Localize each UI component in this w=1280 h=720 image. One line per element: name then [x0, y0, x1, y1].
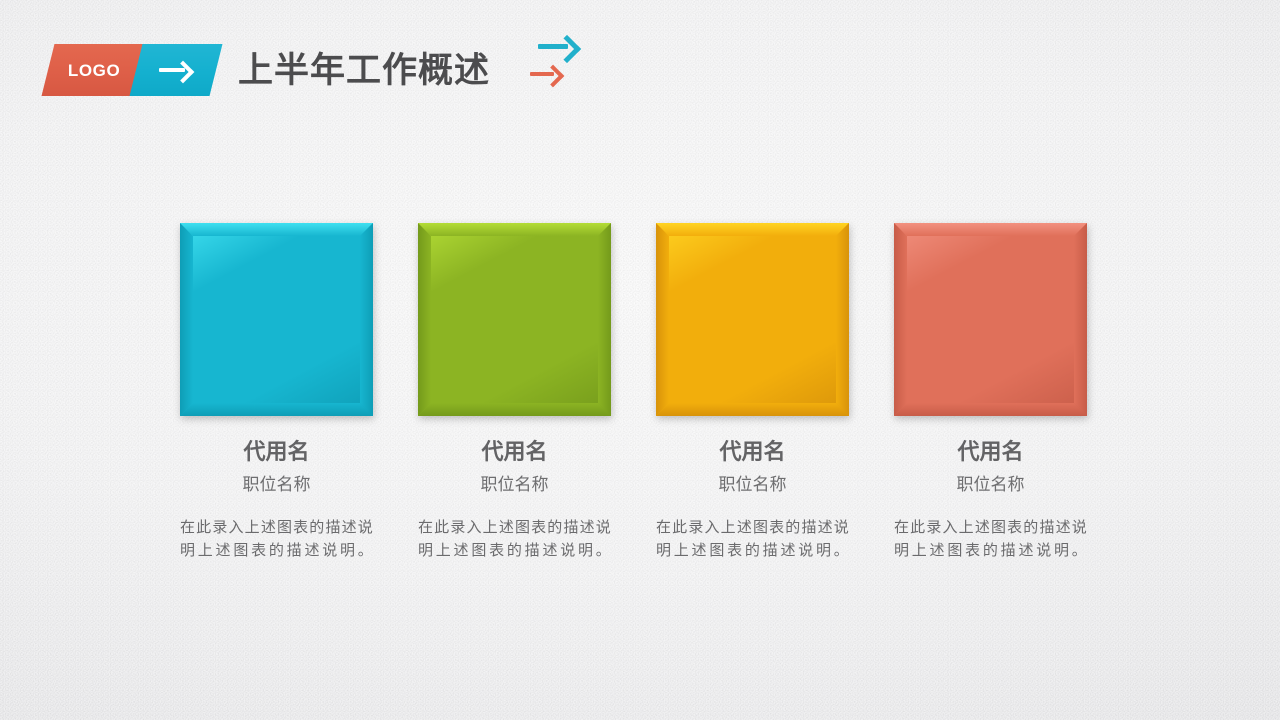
person-name: 代用名 — [957, 440, 1023, 464]
person-name: 代用名 — [243, 440, 309, 464]
person-role: 职位名称 — [719, 476, 787, 495]
tile-bevel-bottom — [180, 403, 373, 416]
color-tile-2[interactable] — [418, 223, 611, 416]
column-4: 代用名 职位名称 在此录入上述图表的描述说明上述图表的描述说明。 — [894, 223, 1087, 562]
tile-face — [418, 223, 611, 416]
slide-header: LOGO 上半年工作概述 — [0, 0, 1280, 120]
tile-bevel-top — [894, 223, 1087, 236]
tile-surface — [418, 223, 611, 416]
tile-bevel-bottom — [894, 403, 1087, 416]
slide-canvas: LOGO 上半年工作概述 — [0, 0, 1280, 720]
person-description: 在此录入上述图表的描述说明上述图表的描述说明。 — [656, 517, 849, 563]
tile-bevel-right — [360, 223, 373, 416]
tile-bevel-top — [180, 223, 373, 236]
tile-bevel-bottom — [418, 403, 611, 416]
person-role: 职位名称 — [481, 476, 549, 495]
person-description: 在此录入上述图表的描述说明上述图表的描述说明。 — [894, 517, 1087, 563]
tile-bevel-top — [418, 223, 611, 236]
logo-label: LOGO — [68, 62, 120, 79]
person-description: 在此录入上述图表的描述说明上述图表的描述说明。 — [418, 517, 611, 563]
arrow-right-icon-orange — [530, 66, 562, 84]
tile-bevel-left — [894, 223, 907, 416]
tile-bevel-right — [598, 223, 611, 416]
tile-face — [656, 223, 849, 416]
tile-face — [894, 223, 1087, 416]
logo-arrow-badge[interactable] — [130, 44, 223, 96]
tile-face — [180, 223, 373, 416]
person-name: 代用名 — [719, 440, 785, 464]
content-columns: 代用名 职位名称 在此录入上述图表的描述说明上述图表的描述说明。 代用名 职位名… — [180, 223, 1120, 562]
tile-bevel-bottom — [656, 403, 849, 416]
person-role: 职位名称 — [957, 476, 1025, 495]
arrow-right-icon — [159, 61, 193, 79]
tile-bevel-left — [656, 223, 669, 416]
tile-bevel-left — [180, 223, 193, 416]
person-description: 在此录入上述图表的描述说明上述图表的描述说明。 — [180, 517, 373, 563]
tile-bevel-right — [836, 223, 849, 416]
tile-bevel-top — [656, 223, 849, 236]
tile-bevel-right — [1074, 223, 1087, 416]
color-tile-3[interactable] — [656, 223, 849, 416]
person-role: 职位名称 — [243, 476, 311, 495]
arrow-right-icon-cyan — [538, 36, 578, 58]
color-tile-1[interactable] — [180, 223, 373, 416]
tile-surface — [656, 223, 849, 416]
column-1: 代用名 职位名称 在此录入上述图表的描述说明上述图表的描述说明。 — [180, 223, 373, 562]
tile-bevel-left — [418, 223, 431, 416]
title-decoration — [528, 32, 598, 94]
column-2: 代用名 职位名称 在此录入上述图表的描述说明上述图表的描述说明。 — [418, 223, 611, 562]
page-title: 上半年工作概述 — [238, 44, 490, 96]
tile-surface — [894, 223, 1087, 416]
tile-surface — [180, 223, 373, 416]
column-3: 代用名 职位名称 在此录入上述图表的描述说明上述图表的描述说明。 — [656, 223, 849, 562]
color-tile-4[interactable] — [894, 223, 1087, 416]
person-name: 代用名 — [481, 440, 547, 464]
